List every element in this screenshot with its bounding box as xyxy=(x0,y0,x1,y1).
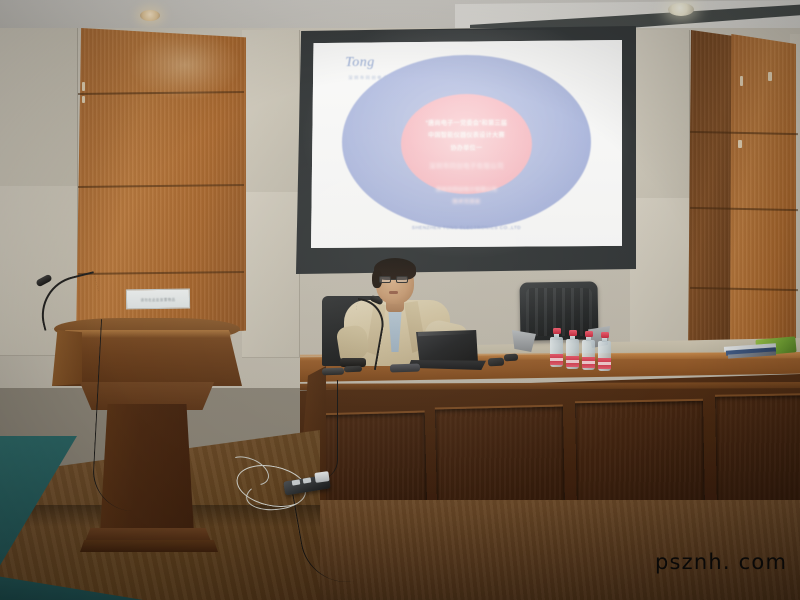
slide-logo: Tong xyxy=(345,55,375,71)
glasses-icon xyxy=(396,276,408,283)
podium-sign: 请勿在此处放置物品 xyxy=(126,289,190,310)
list-item[interactable] xyxy=(582,332,595,370)
wall-hook-icon xyxy=(82,96,85,103)
slide-footer: SHENZHEN TONG ELECTRONICS CO.,LTD xyxy=(311,225,622,230)
wall-hook-icon xyxy=(768,72,772,81)
presenter-mouth xyxy=(389,291,398,294)
wall-panel-beige xyxy=(630,30,690,200)
slide-sub-line-1: 深圳市同创电子有限公司 xyxy=(311,186,622,193)
glasses-bridge xyxy=(391,279,396,280)
projection-screen[interactable]: Tong 深圳市同创电子 “唐尚电子一党委会”和第三届 中国智能仪器仪表设计大赛… xyxy=(311,40,622,248)
ceiling-downlight-icon xyxy=(140,10,160,21)
list-item[interactable] xyxy=(598,333,611,371)
wall-hook-icon xyxy=(740,76,743,86)
power-cable xyxy=(318,380,338,480)
wall-hook-icon xyxy=(738,140,742,148)
wall-panel-beige xyxy=(242,30,300,194)
desk-panel xyxy=(715,393,800,509)
podium-base-plinth xyxy=(80,540,218,552)
bottle-label-stripe xyxy=(550,358,563,361)
glasses-icon xyxy=(379,276,391,283)
list-item[interactable] xyxy=(550,329,563,367)
list-item[interactable] xyxy=(566,331,579,369)
bottle-label-stripe xyxy=(582,361,595,364)
bottle-cap xyxy=(601,332,609,338)
bottle-label-stripe xyxy=(598,362,611,365)
podium-sign-text: 请勿在此处放置物品 xyxy=(140,296,175,301)
slide-logo-subtitle: 深圳市同创电子 xyxy=(348,75,389,81)
conference-room-photo: Tong 深圳市同创电子 “唐尚电子一党委会”和第三届 中国智能仪器仪表设计大赛… xyxy=(0,0,800,600)
bottle-label-stripe xyxy=(566,360,579,363)
wall-panel-beige xyxy=(242,192,300,358)
watermark: psznh. com xyxy=(655,550,787,574)
slide-highlight-line: 深圳市同创电子有限公司 xyxy=(311,161,622,170)
slide-sub-line-2: 技术交流会 xyxy=(311,198,622,205)
wall-panel-beige xyxy=(630,198,690,362)
bottle-cap xyxy=(585,331,593,337)
desk-device[interactable] xyxy=(504,354,518,362)
presentation-slide: Tong 深圳市同创电子 “唐尚电子一党委会”和第三届 中国智能仪器仪表设计大赛… xyxy=(311,40,622,248)
desk-device[interactable] xyxy=(322,368,344,376)
bottle-cap xyxy=(569,330,577,336)
mousepad xyxy=(390,363,420,372)
desk-device[interactable] xyxy=(488,358,504,367)
ceiling-downlight-icon xyxy=(668,3,694,16)
slide-title-line-3: 协办单位一 xyxy=(311,143,622,152)
bottle-cap xyxy=(553,328,561,334)
wall-panel-beige xyxy=(0,28,78,188)
slide-title-line-1: “唐尚电子一党委会”和第三届 xyxy=(311,118,622,127)
desk-panel xyxy=(435,405,565,516)
desk-panel xyxy=(575,399,705,513)
slide-title-line-2: 中国智能仪器仪表设计大赛 xyxy=(311,130,622,139)
desk-device[interactable] xyxy=(344,366,362,373)
wall-hook-icon xyxy=(82,82,85,91)
power-adapter[interactable] xyxy=(314,471,329,483)
